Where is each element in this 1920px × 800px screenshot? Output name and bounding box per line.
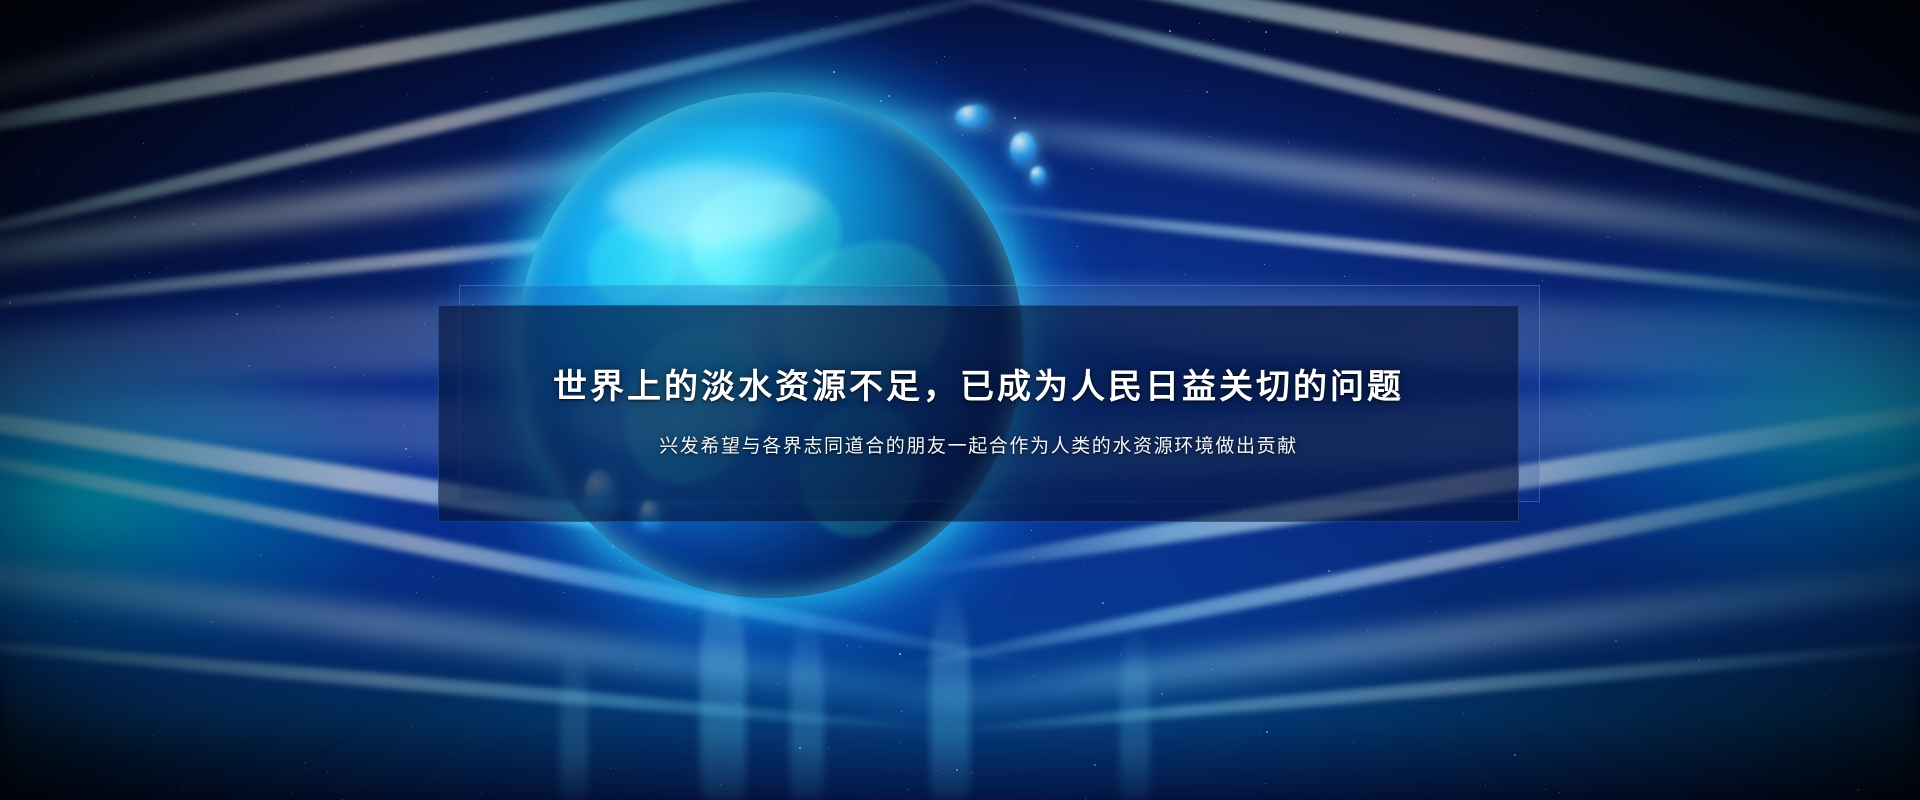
banner-subline: 兴发希望与各界志同道合的朋友一起合作为人类的水资源环境做出贡献 <box>659 434 1298 461</box>
text-panel: 世界上的淡水资源不足，已成为人民日益关切的问题 兴发希望与各界志同道合的朋友一起… <box>438 285 1540 524</box>
banner-headline: 世界上的淡水资源不足，已成为人民日益关切的问题 <box>553 366 1404 409</box>
panel-content: 世界上的淡水资源不足，已成为人民日益关切的问题 兴发希望与各界志同道合的朋友一起… <box>438 305 1519 522</box>
hero-banner: 世界上的淡水资源不足，已成为人民日益关切的问题 兴发希望与各界志同道合的朋友一起… <box>0 0 1920 800</box>
